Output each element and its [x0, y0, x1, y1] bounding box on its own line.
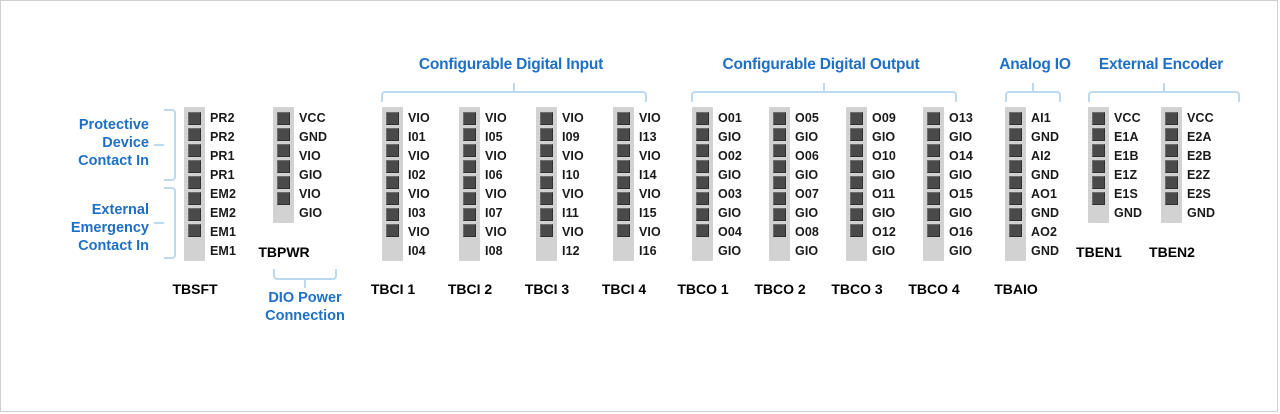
- pin: [386, 160, 399, 173]
- pin: [696, 176, 709, 189]
- pin: [1009, 224, 1022, 237]
- pin: [463, 112, 476, 125]
- pin: [850, 208, 863, 221]
- block-name-tben2: TBEN2: [1140, 244, 1204, 260]
- block-name-tbci2: TBCI 2: [438, 281, 502, 297]
- pin-strip: [846, 107, 867, 261]
- pin: [277, 128, 290, 141]
- pin: [773, 128, 786, 141]
- pin: [927, 128, 940, 141]
- pin-label: VIO: [562, 149, 584, 163]
- pin-strip: [613, 107, 634, 261]
- pin-label: O09: [872, 111, 896, 125]
- block-name-tbco3: TBCO 3: [825, 281, 889, 297]
- pin: [1092, 112, 1105, 125]
- pin: [463, 208, 476, 221]
- pin-label: GIO: [872, 206, 895, 220]
- pin: [927, 112, 940, 125]
- pin: [617, 160, 630, 173]
- pin: [540, 176, 553, 189]
- pin: [1092, 144, 1105, 157]
- block-name-tbci3: TBCI 3: [515, 281, 579, 297]
- pin: [277, 176, 290, 189]
- pin-label: I01: [408, 130, 426, 144]
- pin: [1009, 192, 1022, 205]
- pin-label: O07: [795, 187, 819, 201]
- pin-label: PR2: [210, 130, 235, 144]
- pin: [386, 112, 399, 125]
- group-title-configurable-digital-output: Configurable Digital Output: [676, 56, 966, 74]
- pin-strip: [1005, 107, 1026, 261]
- pin: [1165, 128, 1178, 141]
- pin: [696, 192, 709, 205]
- pin: [617, 128, 630, 141]
- pin: [386, 176, 399, 189]
- pin-label: I14: [639, 168, 657, 182]
- pin-label: E2B: [1187, 149, 1212, 163]
- pin-label: VIO: [408, 149, 430, 163]
- pin-label: I11: [562, 206, 579, 220]
- block-name-tbpwr: TBPWR: [252, 244, 316, 260]
- pin-label: I13: [639, 130, 657, 144]
- pin: [188, 192, 201, 205]
- pin-label: O06: [795, 149, 819, 163]
- caption-line: Emergency: [1, 219, 149, 237]
- pin: [540, 112, 553, 125]
- pin-label: GIO: [299, 168, 322, 182]
- pin: [773, 224, 786, 237]
- pin-label: I08: [485, 244, 503, 258]
- pin-label: GND: [1031, 206, 1059, 220]
- pin-label: EM2: [210, 187, 236, 201]
- pin-label: EM2: [210, 206, 236, 220]
- pin: [927, 176, 940, 189]
- pin-label: VIO: [485, 111, 507, 125]
- bracket-stem: [513, 83, 515, 93]
- pin-label: GIO: [795, 130, 818, 144]
- pin: [927, 224, 940, 237]
- pin-strip: [273, 107, 294, 223]
- block-name-tbci1: TBCI 1: [361, 281, 425, 297]
- pin: [386, 192, 399, 205]
- pin: [850, 128, 863, 141]
- pin-label: AI1: [1031, 111, 1051, 125]
- pin: [386, 144, 399, 157]
- pin: [463, 160, 476, 173]
- pin-label: GIO: [949, 130, 972, 144]
- pin-label: AO1: [1031, 187, 1057, 201]
- pin: [540, 128, 553, 141]
- pin: [773, 208, 786, 221]
- bracket-configurable-digital-output: [691, 91, 957, 102]
- pin: [1165, 192, 1178, 205]
- pin-label: I07: [485, 206, 503, 220]
- bracket-analog-io: [1005, 91, 1061, 102]
- pin: [188, 112, 201, 125]
- pin-label: GND: [1031, 130, 1059, 144]
- pin: [773, 176, 786, 189]
- pin-label: E1S: [1114, 187, 1138, 201]
- pin-label: I10: [562, 168, 580, 182]
- pin-label: GIO: [949, 168, 972, 182]
- group-title-configurable-digital-input: Configurable Digital Input: [366, 56, 656, 74]
- pin-label: GIO: [718, 168, 741, 182]
- bracket-configurable-digital-input: [381, 91, 647, 102]
- pin: [463, 224, 476, 237]
- pin: [188, 128, 201, 141]
- pin-label: I06: [485, 168, 503, 182]
- block-name-tbco4: TBCO 4: [902, 281, 966, 297]
- pin-label: GIO: [795, 244, 818, 258]
- pin-label: E2Z: [1187, 168, 1210, 182]
- pin-label: O11: [872, 187, 895, 201]
- caption-line: DIO Power: [245, 289, 365, 307]
- caption-line: Device: [1, 134, 149, 152]
- pin-strip: [1088, 107, 1109, 223]
- pin-strip: [382, 107, 403, 261]
- bracket-stem: [1032, 83, 1034, 93]
- pin: [617, 192, 630, 205]
- pin: [617, 144, 630, 157]
- caption-line: Connection: [245, 307, 365, 325]
- pin: [617, 112, 630, 125]
- pin: [1009, 160, 1022, 173]
- pin-label: I12: [562, 244, 580, 258]
- pin-label: GND: [1187, 206, 1215, 220]
- pin-label: GIO: [718, 244, 741, 258]
- pin: [463, 144, 476, 157]
- pin: [1165, 112, 1178, 125]
- pin: [188, 144, 201, 157]
- pin: [1165, 144, 1178, 157]
- pin: [850, 144, 863, 157]
- pin-label: EM1: [210, 244, 236, 258]
- pin-label: I05: [485, 130, 503, 144]
- pin-label: GIO: [795, 168, 818, 182]
- pin-label: AI2: [1031, 149, 1051, 163]
- pin: [463, 128, 476, 141]
- pin-label: O16: [949, 225, 973, 239]
- bracket-protective-device-contact-in: [164, 109, 176, 181]
- pin: [617, 224, 630, 237]
- pin-label: O10: [872, 149, 896, 163]
- pin-label: VIO: [639, 187, 661, 201]
- bracket-stem: [823, 83, 825, 93]
- bracket-stem: [154, 222, 164, 224]
- pin-label: I15: [639, 206, 657, 220]
- pin: [1009, 176, 1022, 189]
- pin-label: O03: [718, 187, 742, 201]
- pin-strip: [769, 107, 790, 261]
- pin-label: GIO: [795, 206, 818, 220]
- pin-strip: [536, 107, 557, 261]
- pin-label: VIO: [485, 187, 507, 201]
- pin: [696, 112, 709, 125]
- pin-label: PR1: [210, 168, 235, 182]
- pin-label: GIO: [872, 130, 895, 144]
- pin: [1092, 160, 1105, 173]
- pin: [277, 160, 290, 173]
- pin: [540, 192, 553, 205]
- pin: [696, 224, 709, 237]
- pin-strip: [923, 107, 944, 261]
- pin: [386, 128, 399, 141]
- bracket-external-encoder: [1088, 91, 1240, 102]
- pin: [1009, 208, 1022, 221]
- pin: [1009, 144, 1022, 157]
- pin-label: AO2: [1031, 225, 1057, 239]
- pin: [540, 160, 553, 173]
- pin: [277, 112, 290, 125]
- pin-label: VIO: [408, 187, 430, 201]
- pin: [850, 192, 863, 205]
- pin: [927, 192, 940, 205]
- pin: [277, 192, 290, 205]
- pin-label: E1A: [1114, 130, 1139, 144]
- block-name-tben1: TBEN1: [1067, 244, 1131, 260]
- pin: [188, 160, 201, 173]
- pin-label: E1B: [1114, 149, 1139, 163]
- caption-line: Protective: [1, 116, 149, 134]
- pin-label: VIO: [562, 187, 584, 201]
- pin: [1092, 176, 1105, 189]
- pin-label: VIO: [639, 149, 661, 163]
- pin: [463, 176, 476, 189]
- pin-label: VIO: [639, 225, 661, 239]
- block-name-tbaio: TBAIO: [984, 281, 1048, 297]
- block-name-tbsft: TBSFT: [163, 281, 227, 297]
- pin: [386, 208, 399, 221]
- pin-label: O02: [718, 149, 742, 163]
- pin: [773, 144, 786, 157]
- group-title-analog-io: Analog IO: [986, 56, 1084, 74]
- pin: [1165, 176, 1178, 189]
- bracket-external-emergency-contact-in: [164, 187, 176, 259]
- pin-label: GIO: [299, 206, 322, 220]
- block-name-tbco1: TBCO 1: [671, 281, 735, 297]
- pin-label: VIO: [485, 225, 507, 239]
- pin-label: GIO: [718, 206, 741, 220]
- pin-label: PR1: [210, 149, 235, 163]
- pin: [927, 160, 940, 173]
- pin: [773, 160, 786, 173]
- pin-strip: [184, 107, 205, 261]
- bracket-dio-power-connection: [273, 269, 337, 280]
- pin: [850, 176, 863, 189]
- pin-label: GIO: [949, 244, 972, 258]
- pin-label: EM1: [210, 225, 236, 239]
- pin-label: I09: [562, 130, 580, 144]
- pin: [696, 128, 709, 141]
- pin: [188, 208, 201, 221]
- pin: [696, 160, 709, 173]
- pin: [927, 144, 940, 157]
- pin-label: VCC: [1114, 111, 1141, 125]
- pin-label: GIO: [872, 168, 895, 182]
- pin-label: O04: [718, 225, 742, 239]
- pin: [850, 160, 863, 173]
- pin-label: O14: [949, 149, 973, 163]
- bracket-stem: [304, 278, 306, 288]
- pin-strip: [459, 107, 480, 261]
- pin-label: E1Z: [1114, 168, 1137, 182]
- pin-label: GND: [1031, 168, 1059, 182]
- pin-label: VCC: [1187, 111, 1214, 125]
- pin-strip: [692, 107, 713, 261]
- pin-label: VIO: [485, 149, 507, 163]
- pin-label: O15: [949, 187, 973, 201]
- pin: [540, 208, 553, 221]
- pin: [188, 176, 201, 189]
- pin-label: GIO: [872, 244, 895, 258]
- pin-label: I03: [408, 206, 426, 220]
- pin-label: E2S: [1187, 187, 1211, 201]
- pin-label: VIO: [299, 149, 321, 163]
- pin-label: I02: [408, 168, 426, 182]
- pin-label: VIO: [639, 111, 661, 125]
- pin: [386, 224, 399, 237]
- pin-label: VCC: [299, 111, 326, 125]
- block-name-tbci4: TBCI 4: [592, 281, 656, 297]
- pin: [1092, 128, 1105, 141]
- caption-protective-device-contact-in: Protective Device Contact In: [1, 116, 149, 170]
- caption-line: External: [1, 201, 149, 219]
- pin-label: E2A: [1187, 130, 1212, 144]
- pin-label: O05: [795, 111, 819, 125]
- pin: [850, 224, 863, 237]
- pin-label: VIO: [408, 225, 430, 239]
- pin: [696, 144, 709, 157]
- pin-label: GIO: [949, 206, 972, 220]
- caption-external-emergency-contact-in: External Emergency Contact In: [1, 201, 149, 255]
- pin-label: GND: [1114, 206, 1142, 220]
- pin-label: O12: [872, 225, 896, 239]
- pin-label: VIO: [299, 187, 321, 201]
- pin: [540, 224, 553, 237]
- pin: [463, 192, 476, 205]
- pin: [773, 192, 786, 205]
- pin: [617, 208, 630, 221]
- group-title-external-encoder: External Encoder: [1087, 56, 1235, 74]
- pin: [1009, 112, 1022, 125]
- pin-label: PR2: [210, 111, 235, 125]
- pin: [1092, 192, 1105, 205]
- pin: [617, 176, 630, 189]
- pin-label: GIO: [718, 130, 741, 144]
- caption-line: Contact In: [1, 237, 149, 255]
- caption-dio-power-connection: DIO Power Connection: [245, 289, 365, 325]
- pin-label: O01: [718, 111, 742, 125]
- pin: [773, 112, 786, 125]
- pin: [850, 112, 863, 125]
- pin: [540, 144, 553, 157]
- bracket-stem: [1163, 83, 1165, 93]
- pin: [188, 224, 201, 237]
- pin-label: VIO: [562, 225, 584, 239]
- pin-label: GND: [1031, 244, 1059, 258]
- pin-label: I04: [408, 244, 426, 258]
- pin: [277, 144, 290, 157]
- pin-strip: [1161, 107, 1182, 223]
- pin-label: O13: [949, 111, 973, 125]
- pin-label: VIO: [562, 111, 584, 125]
- pin: [1165, 160, 1178, 173]
- pin: [1009, 128, 1022, 141]
- pin-label: GND: [299, 130, 327, 144]
- bracket-stem: [154, 144, 164, 146]
- pin-label: I16: [639, 244, 657, 258]
- pin-label: VIO: [408, 111, 430, 125]
- pin-label: O08: [795, 225, 819, 239]
- pin: [927, 208, 940, 221]
- block-name-tbco2: TBCO 2: [748, 281, 812, 297]
- caption-line: Contact In: [1, 152, 149, 170]
- terminal-block-diagram: Configurable Digital Input Configurable …: [0, 0, 1278, 412]
- pin: [696, 208, 709, 221]
